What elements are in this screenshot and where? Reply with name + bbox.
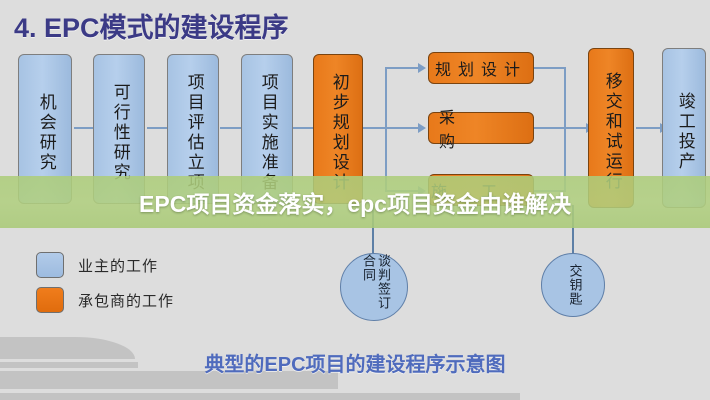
connector-line bbox=[636, 127, 660, 129]
flow-box-label: 机会研究 bbox=[33, 93, 56, 173]
overlay-banner-text: EPC项目资金落实，epc项目资金由谁解决 bbox=[0, 176, 710, 228]
connector-line bbox=[363, 127, 385, 129]
connector-line bbox=[534, 67, 566, 69]
connector-line bbox=[385, 67, 418, 69]
diagram-caption: 典型的EPC项目的建设程序示意图 bbox=[0, 348, 710, 377]
legend-label-contractor: 承包商的工作 bbox=[78, 290, 174, 311]
connector-line bbox=[385, 127, 418, 129]
flow-box-procurement[interactable]: 采购 bbox=[428, 112, 534, 144]
legend-swatch-owner bbox=[36, 252, 64, 278]
flow-box-label: 可行性研究 bbox=[107, 83, 130, 183]
connector-arrow bbox=[418, 123, 426, 133]
legend-label-owner: 业主的工作 bbox=[78, 255, 158, 276]
legend-item-owner: 业主的工作 bbox=[36, 252, 174, 278]
connector-arrow bbox=[418, 63, 426, 73]
flow-circle-turnkey[interactable]: 交钥匙 bbox=[541, 253, 605, 317]
flow-box-label: 采购 bbox=[439, 104, 523, 152]
flow-box-label: 项目评估立项 bbox=[181, 73, 204, 193]
connector-line bbox=[534, 127, 586, 129]
flow-box-label: 项目实施准备 bbox=[255, 73, 278, 193]
flow-box-label: 移交和试运行 bbox=[599, 72, 622, 192]
legend-item-contractor: 承包商的工作 bbox=[36, 287, 174, 313]
legend: 业主的工作 承包商的工作 bbox=[36, 252, 174, 322]
flow-circle-contract-negotiation[interactable]: 谈判签订合同 bbox=[340, 253, 408, 321]
diagram-canvas: 4. EPC模式的建设程序 机会研究 可行性研究 项目评估立项 项目实施准备 初… bbox=[0, 0, 710, 400]
flow-box-planning-design[interactable]: 规划设计 bbox=[428, 52, 534, 84]
connector-merge-spine bbox=[564, 67, 566, 192]
flow-circle-label: 交钥匙 bbox=[566, 264, 581, 306]
connector-branch-spine bbox=[385, 67, 387, 192]
flow-box-label: 规划设计 bbox=[435, 56, 527, 80]
flow-box-label: 初步规划设计 bbox=[326, 73, 349, 193]
decorative-shape bbox=[0, 393, 520, 400]
legend-swatch-contractor bbox=[36, 287, 64, 313]
page-title: 4. EPC模式的建设程序 bbox=[14, 6, 289, 45]
flow-box-label: 竣工投产 bbox=[672, 92, 695, 172]
flow-circle-label: 谈判签订合同 bbox=[359, 254, 389, 320]
